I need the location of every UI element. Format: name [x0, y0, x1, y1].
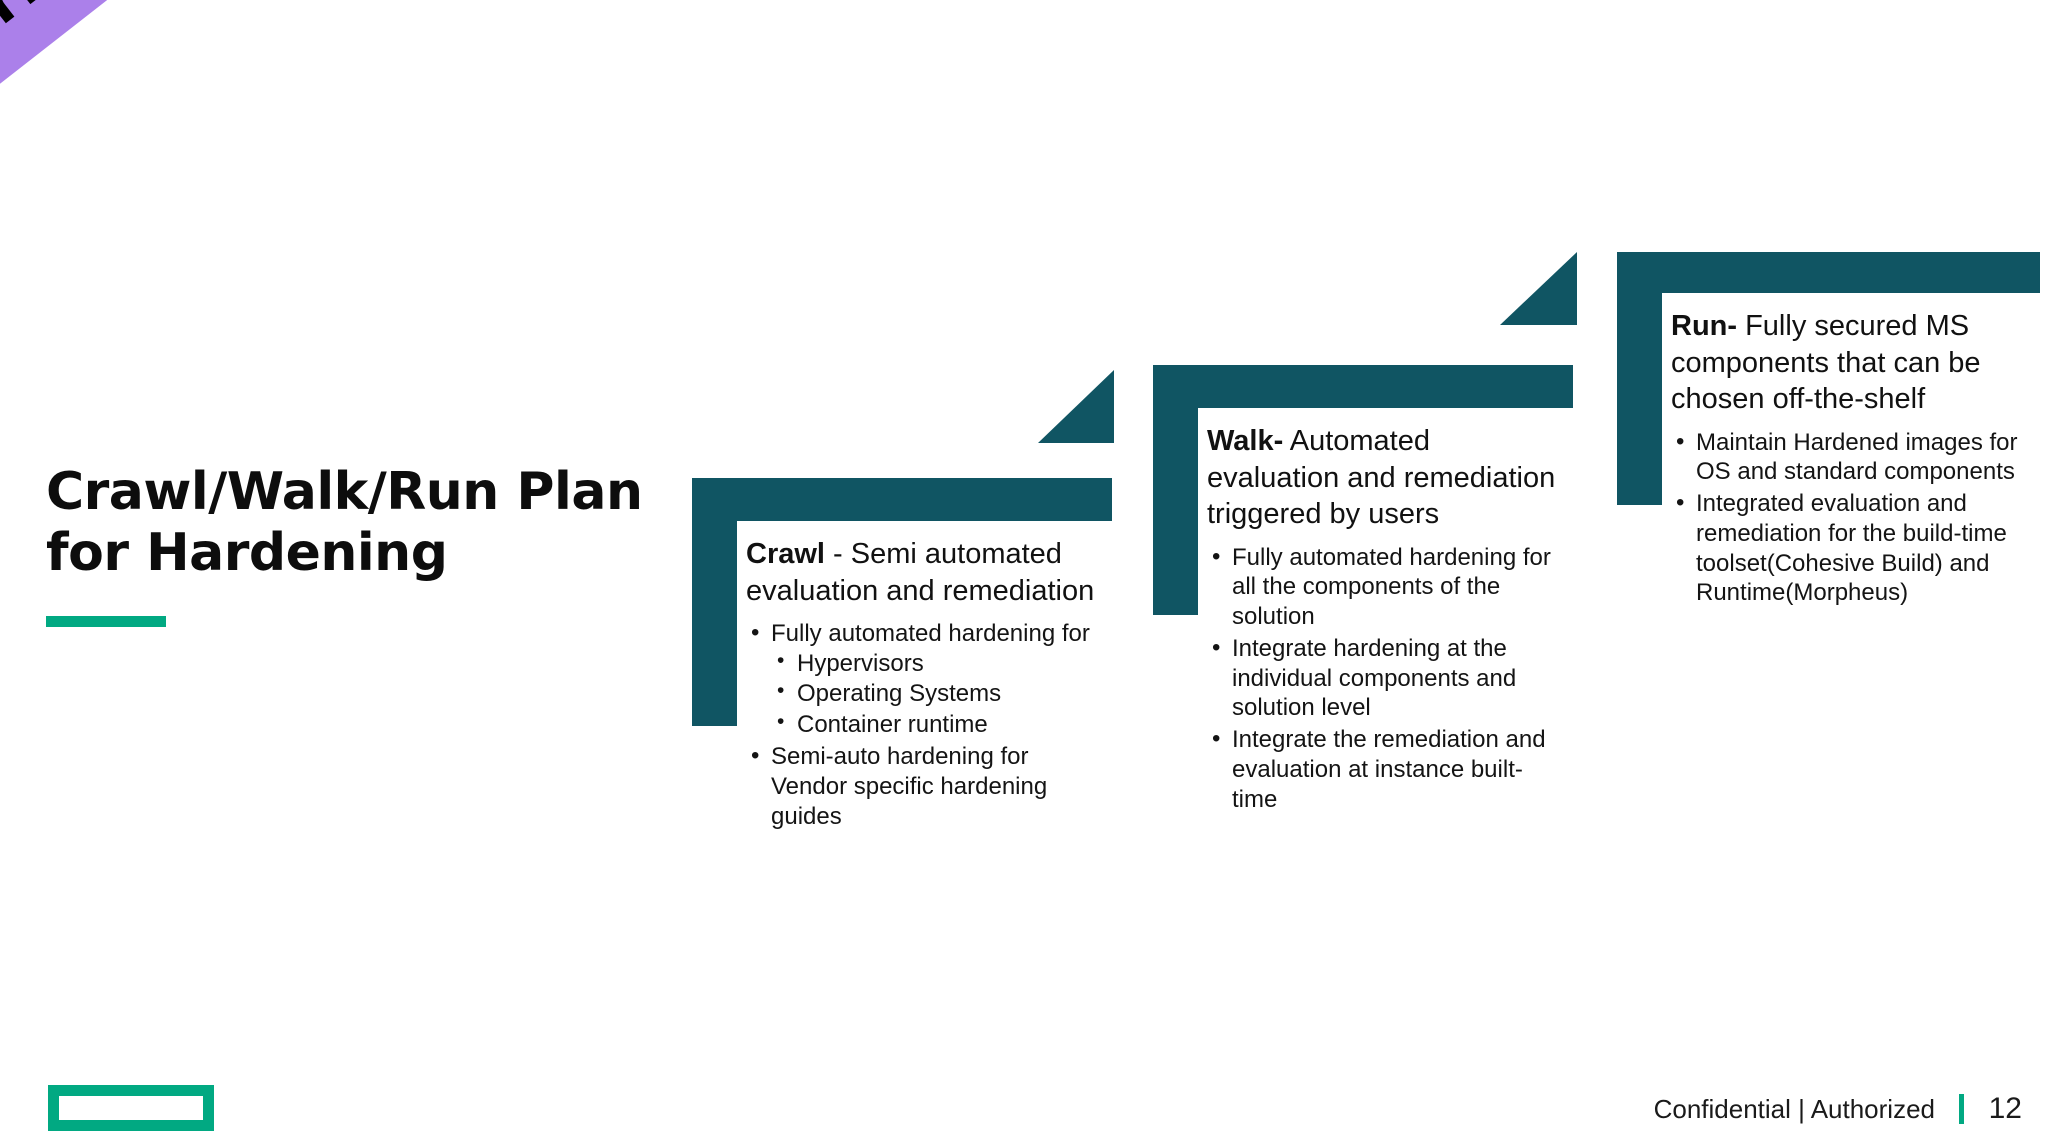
list-item: Operating Systems [771, 679, 1106, 709]
stage-frame-left-crawl [692, 478, 737, 726]
hpe-logo [48, 1085, 214, 1131]
stage-bullets-crawl: Fully automated hardening for Hypervisor… [746, 619, 1106, 831]
footer: Confidential | Authorized 12 [1654, 1092, 2022, 1126]
title-block: Crawl/Walk/Run Plan for Hardening [46, 462, 666, 627]
list-item: Container runtime [771, 710, 1106, 740]
stage-connector-triangle-crawl-walk [1038, 370, 1114, 443]
stage-card-run: Run- Fully secured MS components that ca… [1617, 252, 2040, 512]
stage-connector-triangle-walk-run [1500, 252, 1577, 325]
page-title: Crawl/Walk/Run Plan for Hardening [46, 462, 666, 584]
stage-frame-top-run [1617, 252, 2040, 293]
list-item: Hypervisors [771, 649, 1106, 679]
page-title-line-2: for Hardening [46, 523, 447, 583]
stage-card-walk: Walk- Automated evaluation and remediati… [1153, 365, 1573, 715]
stage-card-crawl: Crawl - Semi automated evaluation and re… [692, 478, 1112, 808]
stage-frame-top-walk [1153, 365, 1573, 408]
list-item: Integrate hardening at the individual co… [1207, 634, 1567, 723]
bullet-text: Fully automated hardening for [771, 620, 1090, 647]
page-number: 12 [1988, 1092, 2022, 1126]
list-item: Integrated evaluation and remediation fo… [1671, 489, 2031, 608]
stage-heading-strong-run: Run- [1671, 310, 1737, 342]
page-title-line-1: Crawl/Walk/Run Plan [46, 462, 642, 522]
footer-divider [1959, 1094, 1964, 1124]
stage-heading-crawl: Crawl - Semi automated evaluation and re… [746, 536, 1106, 609]
list-item: Fully automated hardening for Hypervisor… [746, 619, 1106, 740]
stage-frame-left-run [1617, 252, 1662, 505]
stage-body-walk: Walk- Automated evaluation and remediati… [1207, 423, 1567, 816]
list-item: Integrate the remediation and evaluation… [1207, 725, 1567, 814]
stage-heading-strong-crawl: Crawl [746, 538, 825, 570]
work-under-progress-banner: Work under Progress [0, 0, 513, 114]
confidentiality-label: Confidential | Authorized [1654, 1094, 1935, 1125]
stage-heading-strong-walk: Walk- [1207, 425, 1283, 457]
stage-bullets-walk: Fully automated hardening for all the co… [1207, 543, 1567, 815]
list-item: Semi-auto hardening for Vendor specific … [746, 742, 1106, 831]
work-under-progress-label: Work under Progress [0, 0, 514, 106]
stage-heading-walk: Walk- Automated evaluation and remediati… [1207, 423, 1567, 533]
stage-frame-left-walk [1153, 365, 1198, 615]
title-accent-bar [46, 616, 166, 627]
stage-heading-run: Run- Fully secured MS components that ca… [1671, 308, 2031, 418]
slide-canvas: Work under Progress Crawl/Walk/Run Plan … [0, 0, 2050, 1141]
stage-body-run: Run- Fully secured MS components that ca… [1671, 308, 2031, 610]
stage-bullets-run: Maintain Hardened images for OS and stan… [1671, 428, 2031, 609]
stage-frame-top-crawl [692, 478, 1112, 521]
stage-body-crawl: Crawl - Semi automated evaluation and re… [746, 536, 1106, 833]
list-item: Maintain Hardened images for OS and stan… [1671, 428, 2031, 488]
sub-bullet-list: Hypervisors Operating Systems Container … [771, 649, 1106, 740]
list-item: Fully automated hardening for all the co… [1207, 543, 1567, 632]
